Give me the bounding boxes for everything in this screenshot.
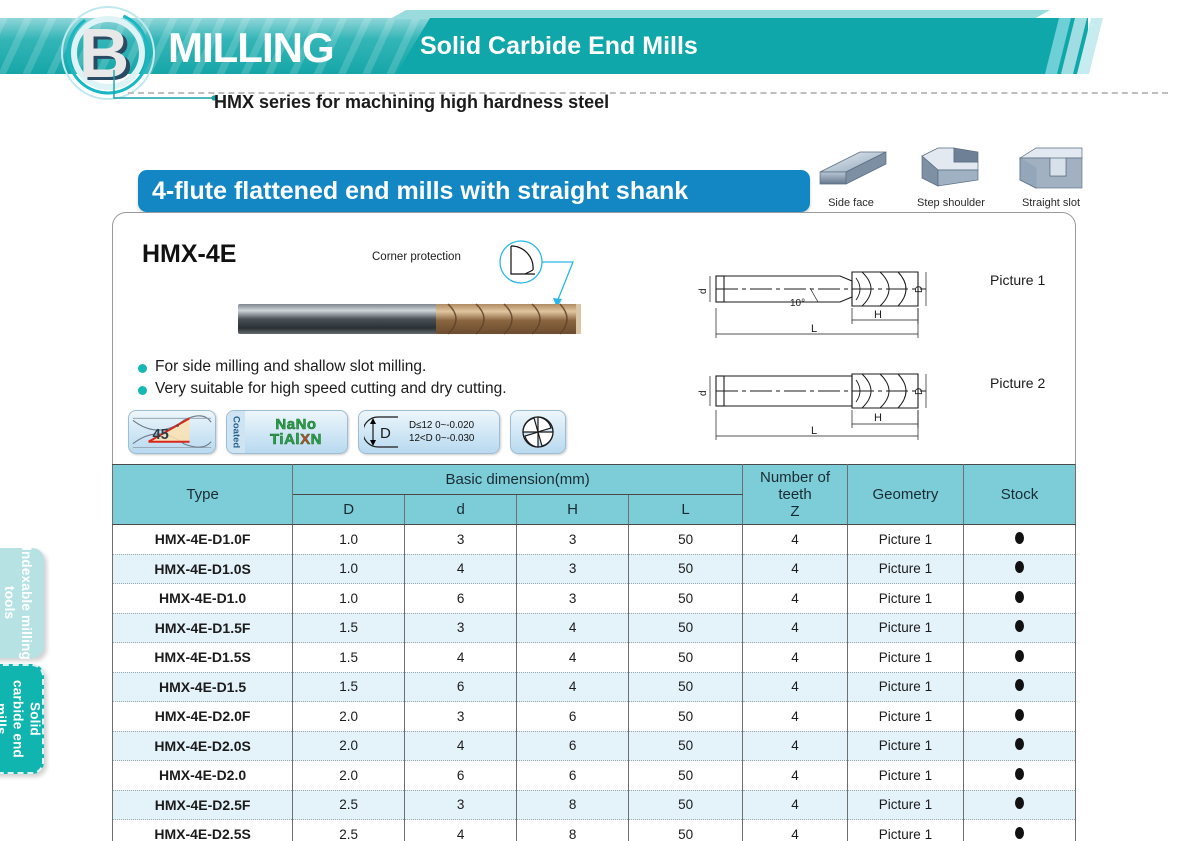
col-header-stock: Stock	[963, 465, 1075, 525]
dim-L: L	[811, 323, 817, 335]
product-model: HMX-4E	[142, 240, 236, 269]
header-accent-sliver	[390, 10, 1050, 19]
coating-line2: TiAlXN	[245, 432, 347, 447]
diameter-tolerance-icon: D	[364, 413, 404, 451]
corner-protection-label: Corner protection	[372, 251, 461, 263]
cell-H: 8	[517, 820, 629, 841]
cell-geometry: Picture 1	[847, 672, 963, 702]
cell-geometry: Picture 1	[847, 613, 963, 643]
cell-teeth: 4	[743, 820, 848, 841]
tolerance-values: D≤12 0~-0.020 12<D 0~-0.030	[409, 419, 474, 445]
feature-badges: 45 ° Coated NaNo TiAlXN D D≤12 0~-0.020	[128, 410, 566, 454]
cell-geometry: Picture 1	[847, 643, 963, 673]
cell-H: 6	[517, 702, 629, 732]
badge-helix-angle: 45 °	[128, 410, 216, 454]
cell-D: 2.0	[293, 731, 405, 761]
cell-d: 4	[405, 820, 517, 841]
coated-label: Coated	[231, 416, 242, 448]
stock-dot-icon	[1015, 738, 1024, 750]
cell-type: HMX-4E-D1.5S	[113, 643, 293, 673]
stock-dot-icon	[1015, 797, 1024, 809]
stock-dot-icon	[1015, 620, 1024, 632]
table-row: HMX-4E-D1.0S1.043504Picture 1	[113, 554, 1076, 584]
svg-text:°: °	[176, 423, 180, 433]
cell-d: 4	[405, 643, 517, 673]
cell-D: 2.5	[293, 790, 405, 820]
table-row: HMX-4E-D1.0F1.033504Picture 1	[113, 525, 1076, 555]
cell-d: 6	[405, 761, 517, 791]
cell-teeth: 4	[743, 584, 848, 614]
col-header-teeth: Number of teeth Z	[743, 465, 848, 525]
bullet-dot-icon	[138, 386, 147, 395]
feature-text: Very suitable for high speed cutting and…	[155, 380, 507, 398]
cell-type: HMX-4E-D1.5F	[113, 613, 293, 643]
cell-H: 4	[517, 672, 629, 702]
badge-coating: Coated NaNo TiAlXN	[226, 410, 348, 454]
cell-geometry: Picture 1	[847, 761, 963, 791]
side-face-icon	[812, 146, 890, 190]
table-body: HMX-4E-D1.0F1.033504Picture 1HMX-4E-D1.0…	[113, 525, 1076, 841]
cell-d: 3	[405, 790, 517, 820]
cell-type: HMX-4E-D1.0	[113, 584, 293, 614]
header-slash-decoration	[1045, 18, 1105, 74]
cell-teeth: 4	[743, 790, 848, 820]
cell-geometry: Picture 1	[847, 820, 963, 841]
dim-d: d	[698, 288, 709, 294]
operation-caption: Step shoulder	[912, 197, 990, 209]
stock-dot-icon	[1015, 827, 1024, 839]
cell-d: 3	[405, 702, 517, 732]
table-row: HMX-4E-D2.0S2.046504Picture 1	[113, 731, 1076, 761]
sidebar-item-label-2: Solid carbide end mills	[0, 666, 44, 772]
cell-L: 50	[629, 525, 743, 555]
col-header-H: H	[517, 495, 629, 525]
sidebar-item-label-1: Indexable milling tools	[1, 547, 35, 660]
cell-L: 50	[629, 584, 743, 614]
specification-table: Type Basic dimension(mm) Number of teeth…	[112, 464, 1076, 841]
cell-L: 50	[629, 790, 743, 820]
stock-dot-icon	[1015, 561, 1024, 573]
cell-L: 50	[629, 702, 743, 732]
cell-type: HMX-4E-D1.0F	[113, 525, 293, 555]
cell-stock	[963, 761, 1075, 791]
cell-L: 50	[629, 554, 743, 584]
cell-H: 6	[517, 731, 629, 761]
stock-dot-icon	[1015, 650, 1024, 662]
section-title: 4-flute flattened end mills with straigh…	[138, 170, 810, 212]
cell-d: 4	[405, 731, 517, 761]
catalog-page: MILLING Solid Carbide End Mills B B HMX …	[0, 0, 1187, 841]
step-shoulder-icon	[912, 146, 990, 190]
cell-L: 50	[629, 820, 743, 841]
col-header-d: d	[405, 495, 517, 525]
cell-stock	[963, 790, 1075, 820]
cell-teeth: 4	[743, 672, 848, 702]
cell-H: 8	[517, 790, 629, 820]
cell-L: 50	[629, 761, 743, 791]
cell-stock	[963, 643, 1075, 673]
dim-D: D	[914, 286, 925, 293]
cell-type: HMX-4E-D2.0S	[113, 731, 293, 761]
cell-D: 1.0	[293, 554, 405, 584]
cell-H: 4	[517, 613, 629, 643]
cell-H: 6	[517, 761, 629, 791]
diameter-symbol: D	[380, 425, 391, 442]
table-row: HMX-4E-D2.0F2.036504Picture 1	[113, 702, 1076, 732]
straight-slot-icon	[1012, 146, 1090, 190]
series-note: HMX series for machining high hardness s…	[214, 92, 609, 113]
drawing-picture-1: d D H L 10°	[690, 258, 980, 344]
operation-step-shoulder: Step shoulder	[912, 146, 990, 209]
cell-stock	[963, 731, 1075, 761]
cell-geometry: Picture 1	[847, 525, 963, 555]
cell-d: 6	[405, 672, 517, 702]
cell-type: HMX-4E-D2.5F	[113, 790, 293, 820]
col-header-L: L	[629, 495, 743, 525]
cell-d: 3	[405, 613, 517, 643]
cell-H: 3	[517, 554, 629, 584]
cell-teeth: 4	[743, 554, 848, 584]
cell-type: HMX-4E-D1.0S	[113, 554, 293, 584]
operation-caption: Straight slot	[1012, 197, 1090, 209]
stock-dot-icon	[1015, 768, 1024, 780]
cell-H: 3	[517, 525, 629, 555]
table-row: HMX-4E-D1.01.063504Picture 1	[113, 584, 1076, 614]
operation-side-face: Side face	[812, 146, 890, 209]
cell-stock	[963, 584, 1075, 614]
cell-stock	[963, 672, 1075, 702]
cell-d: 4	[405, 554, 517, 584]
coating-line1: NaNo	[245, 417, 347, 432]
cell-stock	[963, 525, 1075, 555]
cell-geometry: Picture 1	[847, 584, 963, 614]
table-row: HMX-4E-D1.5S1.544504Picture 1	[113, 643, 1076, 673]
cell-d: 6	[405, 584, 517, 614]
page-title: MILLING	[168, 24, 334, 72]
tolerance-row-1: D≤12 0~-0.020	[409, 419, 474, 432]
cell-geometry: Picture 1	[847, 702, 963, 732]
helix-angle-value: 45	[152, 427, 168, 443]
table-row: HMX-4E-D2.5S2.548504Picture 1	[113, 820, 1076, 841]
drawing-picture-2: d D H L	[690, 360, 980, 446]
cell-D: 2.5	[293, 820, 405, 841]
cell-teeth: 4	[743, 525, 848, 555]
cell-L: 50	[629, 672, 743, 702]
cell-D: 1.5	[293, 672, 405, 702]
bullet-dot-icon	[138, 364, 147, 373]
page-subtitle: Solid Carbide End Mills	[420, 32, 698, 61]
cell-type: HMX-4E-D1.5	[113, 672, 293, 702]
cell-L: 50	[629, 613, 743, 643]
picture-2-label: Picture 2	[990, 375, 1045, 391]
tolerance-row-2: 12<D 0~-0.030	[409, 432, 474, 445]
cell-teeth: 4	[743, 731, 848, 761]
cell-L: 50	[629, 643, 743, 673]
badge-tolerance: D D≤12 0~-0.020 12<D 0~-0.030	[358, 410, 500, 454]
table-row: HMX-4E-D1.5F1.534504Picture 1	[113, 613, 1076, 643]
cell-stock	[963, 554, 1075, 584]
cell-D: 1.0	[293, 584, 405, 614]
dim-angle: 10°	[790, 298, 805, 309]
cell-geometry: Picture 1	[847, 731, 963, 761]
dim-D: D	[914, 388, 925, 395]
cell-D: 2.0	[293, 761, 405, 791]
badge-flute-count	[510, 410, 566, 454]
product-features: For side milling and shallow slot millin…	[138, 358, 507, 402]
sidebar-item-solid-carbide-end-mills[interactable]: Solid carbide end mills	[0, 664, 44, 774]
dim-L: L	[811, 425, 817, 437]
cell-type: HMX-4E-D2.0	[113, 761, 293, 791]
stock-dot-icon	[1015, 591, 1024, 603]
table-row: HMX-4E-D2.02.066504Picture 1	[113, 761, 1076, 791]
cell-D: 2.0	[293, 702, 405, 732]
cell-teeth: 4	[743, 613, 848, 643]
dim-d: d	[698, 390, 709, 396]
stock-dot-icon	[1015, 532, 1024, 544]
feature-item: For side milling and shallow slot millin…	[138, 358, 507, 376]
table-row: HMX-4E-D1.51.564504Picture 1	[113, 672, 1076, 702]
cell-geometry: Picture 1	[847, 554, 963, 584]
cell-D: 1.5	[293, 643, 405, 673]
coated-strip: Coated	[227, 411, 245, 453]
operation-icons: Side face Step shoulder Straight slot	[812, 146, 1090, 209]
col-header-D: D	[293, 495, 405, 525]
cell-type: HMX-4E-D2.0F	[113, 702, 293, 732]
col-header-basic-dimension: Basic dimension(mm)	[293, 465, 743, 495]
stock-dot-icon	[1015, 679, 1024, 691]
feature-text: For side milling and shallow slot millin…	[155, 358, 426, 376]
coating-name: NaNo TiAlXN	[245, 415, 347, 449]
product-photo	[238, 300, 582, 338]
cell-teeth: 4	[743, 761, 848, 791]
table-row: HMX-4E-D2.5F2.538504Picture 1	[113, 790, 1076, 820]
cell-teeth: 4	[743, 702, 848, 732]
four-flute-cross-section-icon	[518, 412, 558, 452]
picture-1-label: Picture 1	[990, 272, 1045, 288]
cell-L: 50	[629, 731, 743, 761]
helix-angle-icon: 45 °	[129, 410, 215, 454]
cell-d: 3	[405, 525, 517, 555]
series-leader-line	[112, 68, 220, 106]
sidebar-item-indexable-milling-tools[interactable]: Indexable milling tools	[0, 548, 44, 658]
dim-H: H	[874, 412, 882, 424]
feature-item: Very suitable for high speed cutting and…	[138, 380, 507, 398]
col-header-type: Type	[113, 465, 293, 525]
cell-stock	[963, 613, 1075, 643]
cell-D: 1.5	[293, 613, 405, 643]
cell-teeth: 4	[743, 643, 848, 673]
cell-geometry: Picture 1	[847, 790, 963, 820]
cell-H: 3	[517, 584, 629, 614]
cell-stock	[963, 820, 1075, 841]
dim-H: H	[874, 309, 882, 321]
stock-dot-icon	[1015, 709, 1024, 721]
operation-straight-slot: Straight slot	[1012, 146, 1090, 209]
cell-D: 1.0	[293, 525, 405, 555]
col-header-geometry: Geometry	[847, 465, 963, 525]
cell-stock	[963, 702, 1075, 732]
operation-caption: Side face	[812, 197, 890, 209]
cell-type: HMX-4E-D2.5S	[113, 820, 293, 841]
cell-H: 4	[517, 643, 629, 673]
